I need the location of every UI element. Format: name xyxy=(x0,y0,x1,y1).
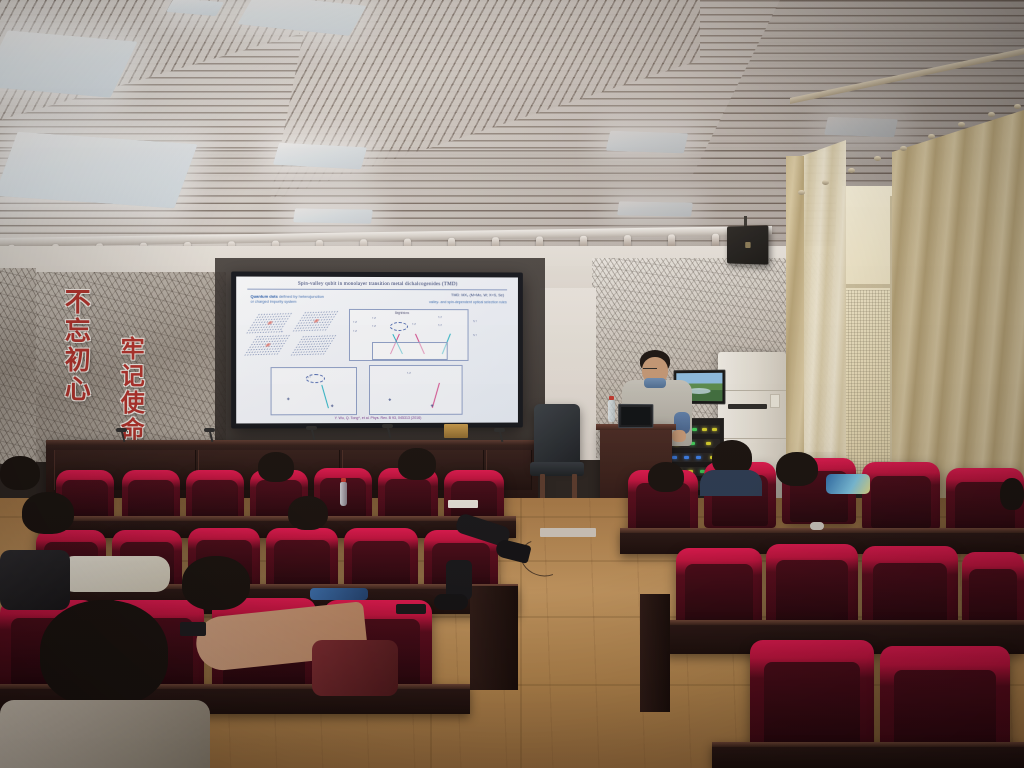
slide-subtitle-left-bold: Quantum dots xyxy=(250,294,277,299)
slide-subtitle-left: Quantum dots defined by heterojunction xyxy=(250,294,323,299)
spin-level: ↑↓↑ xyxy=(353,320,357,324)
ac-label-badge xyxy=(770,394,780,408)
seat-back xyxy=(750,640,874,752)
audience-coat-dark xyxy=(0,550,70,610)
seat-back xyxy=(862,546,958,630)
ceiling-panel-light-8 xyxy=(824,117,898,137)
seat-back xyxy=(862,462,940,530)
spin-level-outside: ↑↓↑ xyxy=(472,319,476,323)
exciton-blob xyxy=(390,322,408,331)
state-marker: ✥ xyxy=(431,404,434,408)
audience-head xyxy=(0,456,40,490)
curtain-grommet xyxy=(1014,104,1021,109)
microphone-head-icon xyxy=(382,424,393,428)
wall-speaker-icon xyxy=(727,225,768,264)
window-curtain-secondary xyxy=(786,156,804,486)
state-marker: ✥ xyxy=(287,397,290,401)
notebook-on-desk xyxy=(448,500,478,508)
presenter-hand xyxy=(672,430,686,442)
audience-head xyxy=(182,556,250,610)
spin-level: ↑↓↑ xyxy=(372,324,376,328)
audience-desk xyxy=(712,742,1024,768)
executive-chair-back xyxy=(534,404,580,466)
presenter-laptop[interactable] xyxy=(618,404,653,428)
ceiling-panel-light-5 xyxy=(606,131,689,154)
window-frame-mullion xyxy=(840,284,892,288)
projected-slide: Spin-valley qubit in monolayer transitio… xyxy=(236,277,518,424)
window-insect-screen xyxy=(842,290,890,474)
microphone-head-icon xyxy=(116,428,127,432)
audience-body xyxy=(700,470,762,496)
spin-level: ↑↓↑ xyxy=(412,322,416,326)
audience-sleeve-maroon xyxy=(312,640,398,696)
lattice-diagram-1 xyxy=(246,312,294,333)
audience-head xyxy=(40,600,168,706)
curtain-grommet xyxy=(798,190,805,195)
lattice-diagram-4 xyxy=(290,334,338,355)
seat-back xyxy=(766,544,858,626)
lecture-hall-photo: 不忘初心 牢记使命 Spin-valley qubit in monolayer… xyxy=(0,0,1024,768)
dais-top-edge xyxy=(46,440,538,445)
curtain-grommet xyxy=(928,134,935,139)
mouse-on-desk xyxy=(810,522,824,530)
slide-citation: Y. Wu, Q. Tong*, et al. Phys. Rev. B 93,… xyxy=(236,416,518,421)
bottle-cap xyxy=(341,478,346,482)
spin-level: ↑↓↑ xyxy=(306,375,310,379)
ceiling-panel-light-4 xyxy=(273,143,367,170)
curtain-grommet xyxy=(900,146,907,151)
water-bottle xyxy=(608,400,615,422)
spin-level: ↑↓↑ xyxy=(407,371,411,375)
seat-back xyxy=(344,528,418,592)
transition-arrow-cyan xyxy=(321,385,328,408)
spin-level: ↑↓↑ xyxy=(353,329,357,333)
audience-phone xyxy=(180,622,206,636)
lattice-diagram-3 xyxy=(243,334,291,355)
valley-sub-panel xyxy=(372,342,448,360)
state-marker: ✥ xyxy=(331,404,334,408)
ceiling-panel-light-6 xyxy=(617,201,693,216)
slide-title: Spin-valley qubit in monolayer transitio… xyxy=(248,281,507,291)
spin-level-outside: ↑↓↑ xyxy=(472,333,476,337)
wooden-name-plaque xyxy=(444,424,468,438)
slide-subtitle-left-rest: defined by heterojunction xyxy=(278,294,324,299)
band-panel-caption: Bright trions xyxy=(395,311,409,315)
lower-right-panel: ↑↓↑ ✥ ✥ xyxy=(369,365,463,415)
curtain-grommet xyxy=(822,180,829,185)
audience-body xyxy=(0,700,210,768)
spin-level: ↑↓↑ xyxy=(438,315,442,319)
bottle-cap xyxy=(609,396,614,400)
water-bottle xyxy=(340,482,347,506)
pen-case-on-desk xyxy=(310,588,368,600)
band-structure-panel: Bright trions ↑↓↑ ↑↓↑ ↑↓↑ ↑↓↑ ↑↓↑ ↑↓↑ ↑↓… xyxy=(349,309,469,361)
seat-back xyxy=(122,470,180,522)
audience-coat-white xyxy=(60,556,170,592)
seat-back xyxy=(266,528,338,590)
audience-head xyxy=(776,452,818,486)
slide-subtitle-left-line2: or charged impurity system xyxy=(250,300,296,304)
curtain-grommet xyxy=(848,168,855,173)
audience-shoe xyxy=(434,594,468,610)
microphone-head-icon xyxy=(306,426,317,430)
phone-on-desk xyxy=(396,604,426,614)
desk-end-panel xyxy=(640,594,670,712)
ceiling-panel-light-2 xyxy=(0,132,198,209)
curtain-grommet xyxy=(874,156,881,161)
seat-back xyxy=(676,548,762,628)
ceiling-panel-light-7 xyxy=(293,208,373,223)
curtain-grommet xyxy=(958,122,965,127)
presenter-glasses xyxy=(643,368,657,372)
projection-screen: Spin-valley qubit in monolayer transitio… xyxy=(231,271,523,428)
backpack-on-desk xyxy=(826,474,870,494)
audience-head xyxy=(398,448,436,480)
microphone-head-icon xyxy=(494,428,505,432)
spin-level: ↑↓↑ xyxy=(372,316,376,320)
laptop-screen xyxy=(621,407,650,425)
microphone-head-icon xyxy=(204,428,215,432)
seat-back xyxy=(186,470,244,522)
plus-sign: + xyxy=(281,329,283,334)
audience-head xyxy=(22,492,74,534)
presenter-collar xyxy=(644,378,666,388)
audience-head xyxy=(288,496,328,530)
marble-wall-left xyxy=(0,268,36,464)
desk-end-panel xyxy=(470,586,518,690)
lower-left-panel: ↑↓↑ ✥ ✥ xyxy=(271,367,357,415)
audience-head xyxy=(648,462,684,492)
audience-head xyxy=(1000,478,1024,510)
spin-level: ↑↓↑ xyxy=(438,323,442,327)
floor-cable-duct xyxy=(540,528,596,537)
slide-subtitle-right: TMD: MX₂ (M=Mo, W; X=S, Se) xyxy=(451,293,504,297)
lattice-diagram-2 xyxy=(292,310,340,331)
wall-calligraphy-line-1: 不忘初心 xyxy=(62,288,89,404)
slide-subtitle-right-line2: valley- and spin-dependent optical selec… xyxy=(429,300,507,304)
audience-head xyxy=(258,452,294,482)
curtain-grommet xyxy=(988,112,995,117)
state-marker: ✥ xyxy=(388,398,391,402)
speaker-logo xyxy=(745,242,750,248)
